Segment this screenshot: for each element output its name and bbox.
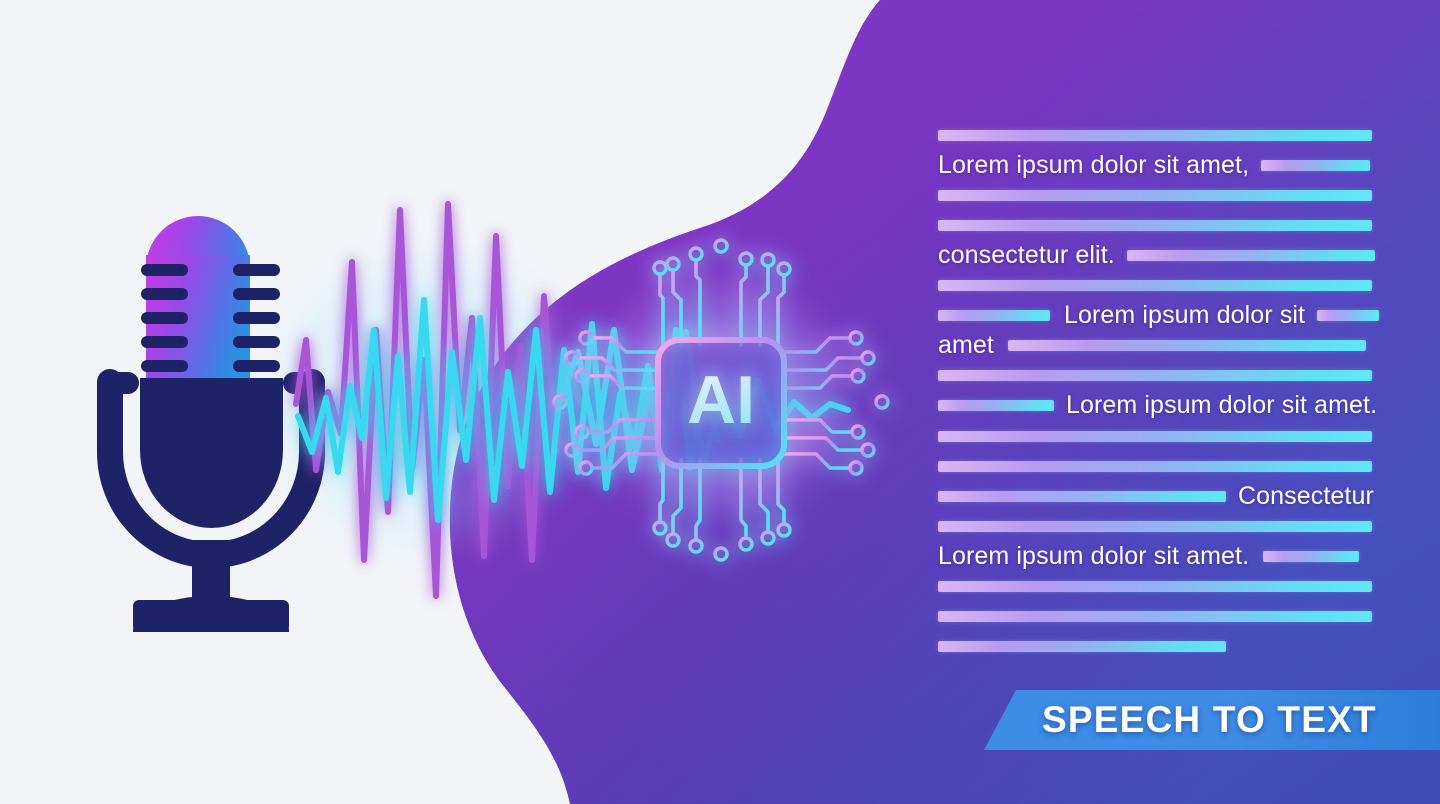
transcript-text: Lorem ipsum dolor sit bbox=[1064, 303, 1305, 328]
transcript-bar bbox=[938, 461, 1372, 472]
transcript-bar-row bbox=[938, 509, 1374, 543]
transcript-bar-row bbox=[938, 419, 1374, 453]
transcript-text-row: Consectetur bbox=[938, 479, 1374, 513]
transcript-bar bbox=[938, 280, 1372, 291]
transcript-bar bbox=[938, 370, 1372, 381]
transcript-text: Consectetur bbox=[1238, 484, 1374, 509]
illustration-canvas: AI Lorem ipsum dolor sit amet,consectetu… bbox=[0, 0, 1440, 804]
transcript-bar-row bbox=[938, 208, 1374, 242]
transcript-bar-row bbox=[938, 449, 1374, 483]
transcript-text-row: Lorem ipsum dolor sit amet. bbox=[938, 389, 1374, 423]
transcript-bar bbox=[938, 581, 1372, 592]
transcript-bar bbox=[938, 400, 1054, 411]
transcript-text-row: Lorem ipsum dolor sit amet. bbox=[938, 539, 1374, 573]
transcript-bar bbox=[1263, 551, 1359, 562]
transcript-bar bbox=[1317, 310, 1379, 321]
mic-yoke-cap-left bbox=[97, 372, 139, 394]
transcript-bar bbox=[938, 220, 1372, 231]
mic-base-plate bbox=[133, 600, 289, 632]
transcript-bar bbox=[938, 491, 1226, 502]
transcript-bar bbox=[1261, 160, 1370, 171]
transcript-bar bbox=[1008, 340, 1366, 351]
chip-ai-label: AI bbox=[687, 362, 755, 438]
transcript-bar bbox=[938, 130, 1372, 141]
mic-housing bbox=[140, 378, 283, 528]
transcript-text-row: consectetur elit. bbox=[938, 238, 1374, 272]
transcript-bar bbox=[938, 431, 1372, 442]
transcript-text-row: amet bbox=[938, 329, 1374, 363]
transcript-panel: Lorem ipsum dolor sit amet,consectetur e… bbox=[938, 118, 1374, 648]
transcript-text-row: Lorem ipsum dolor sit bbox=[938, 299, 1374, 333]
transcript-bar bbox=[1127, 250, 1375, 261]
transcript-bar-row bbox=[938, 118, 1374, 152]
transcript-bar-row bbox=[938, 269, 1374, 303]
transcript-bar-row bbox=[938, 630, 1374, 664]
transcript-bar bbox=[938, 521, 1372, 532]
transcript-bar-row bbox=[938, 570, 1374, 604]
transcript-bar bbox=[938, 190, 1372, 201]
transcript-bar-row bbox=[938, 359, 1374, 393]
speech-to-text-banner[interactable]: SPEECH TO TEXT bbox=[984, 690, 1440, 750]
transcript-bar bbox=[938, 611, 1372, 622]
transcript-bar-row bbox=[938, 600, 1374, 634]
transcript-text: Lorem ipsum dolor sit amet. bbox=[938, 544, 1249, 569]
transcript-text: amet bbox=[938, 333, 994, 358]
transcript-text: consectetur elit. bbox=[938, 243, 1115, 268]
banner-label: SPEECH TO TEXT bbox=[1042, 699, 1377, 741]
transcript-text: Lorem ipsum dolor sit amet, bbox=[938, 153, 1249, 178]
transcript-bar-row bbox=[938, 178, 1374, 212]
transcript-text: Lorem ipsum dolor sit amet. bbox=[1066, 393, 1377, 418]
mic-stem bbox=[192, 540, 230, 602]
transcript-bar bbox=[938, 310, 1050, 321]
transcript-bar bbox=[938, 641, 1226, 652]
mic-yoke-cap-right bbox=[283, 372, 325, 394]
transcript-text-row: Lorem ipsum dolor sit amet, bbox=[938, 148, 1374, 182]
